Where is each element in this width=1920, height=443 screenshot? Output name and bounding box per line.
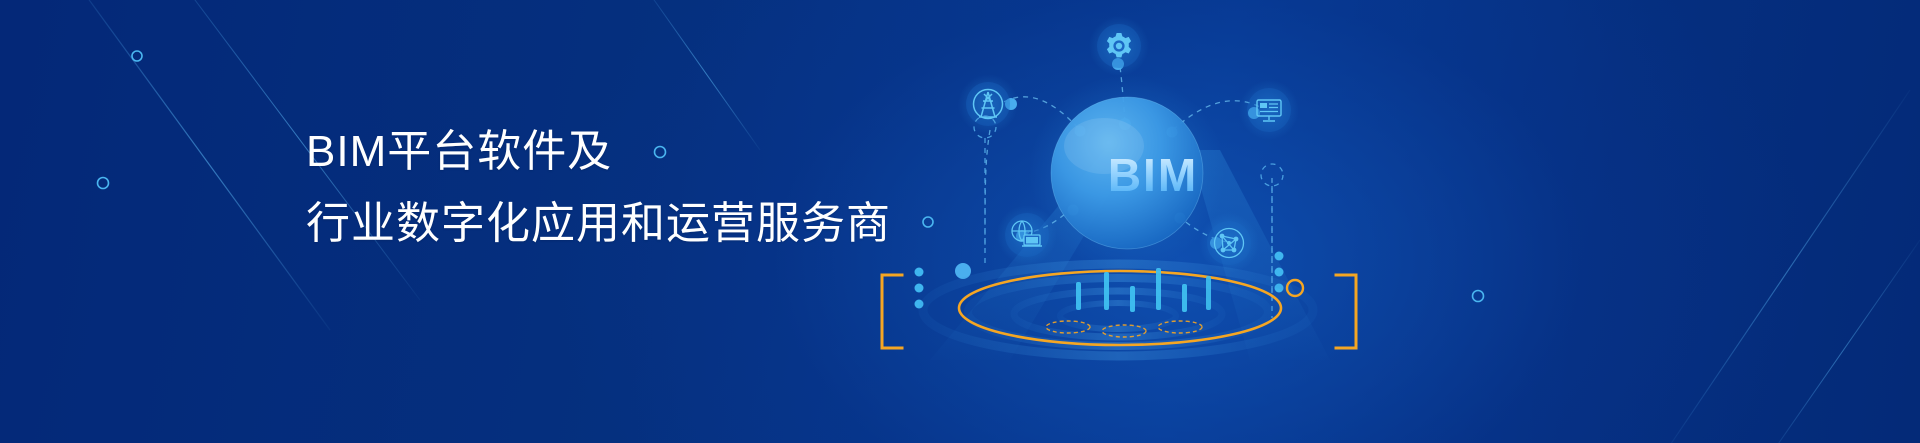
bracket-dot — [1287, 280, 1303, 296]
bim-illustration — [0, 0, 1920, 443]
headline-line-1: BIM平台软件及 — [306, 116, 946, 188]
bracket-right — [1336, 275, 1356, 348]
dashed-stem-group — [974, 116, 1283, 318]
globe-laptop-icon — [1012, 221, 1042, 246]
bracket-group — [882, 275, 1356, 348]
headline-line-2: 行业数字化应用和运营服务商 — [306, 188, 946, 260]
radar-disc — [923, 264, 1313, 356]
gear-icon — [1107, 33, 1131, 57]
stacked-dot-group-right — [1275, 252, 1284, 293]
icon-node-network — [1199, 213, 1259, 273]
icon-node-monitor — [1239, 80, 1299, 140]
power-tower-icon — [974, 90, 1003, 119]
bracket-left — [882, 275, 902, 348]
orange-accent-ring — [959, 271, 1281, 345]
icon-node-gear — [1089, 16, 1149, 76]
banner-headline: BIM平台软件及 行业数字化应用和运营服务商 — [306, 116, 946, 260]
disc-capsule-group — [1046, 321, 1202, 337]
sphere-label: BIM — [1078, 148, 1228, 202]
background-decoration — [0, 0, 1920, 443]
monitor-icon — [1257, 100, 1281, 121]
data-bar-group — [1076, 268, 1211, 312]
icon-node-globe-laptop — [997, 205, 1057, 265]
icon-node-power-tower — [958, 74, 1018, 134]
network-nodes-icon — [1215, 229, 1244, 258]
stacked-dot-group-left — [915, 268, 924, 309]
hero-banner: BIM平台软件及 行业数字化应用和运营服务商 — [0, 0, 1920, 443]
